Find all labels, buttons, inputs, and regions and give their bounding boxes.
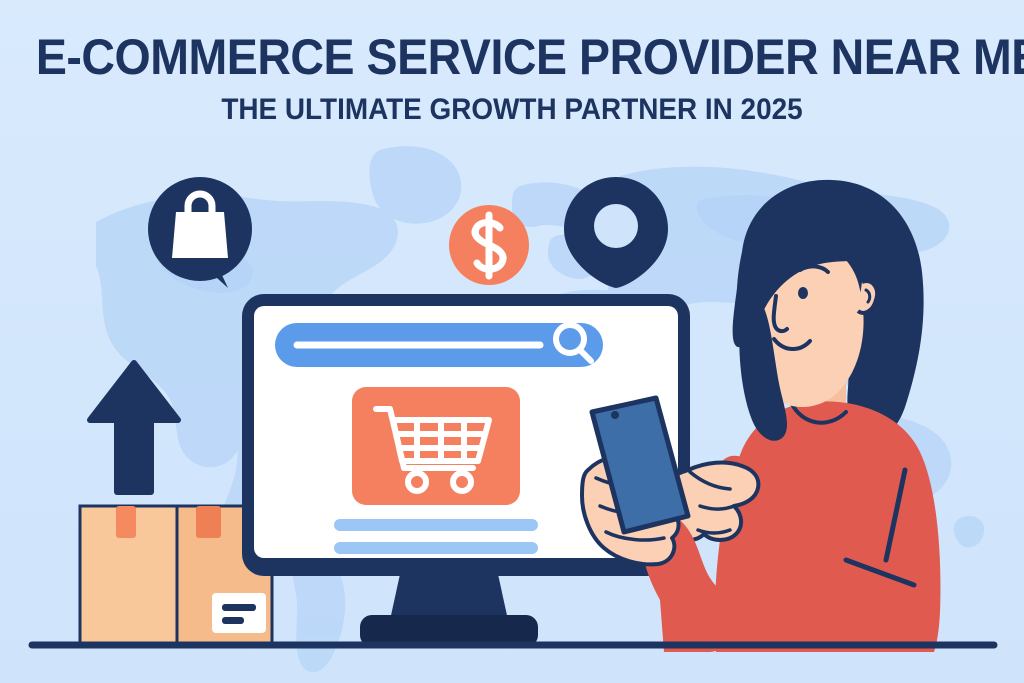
illustration-layer — [0, 0, 1024, 683]
arrow-up-icon — [90, 363, 178, 492]
monitor-stand — [360, 565, 538, 647]
map-pin-icon — [564, 177, 668, 288]
dollar-badge — [449, 205, 529, 285]
monitor-search-bar[interactable] — [275, 323, 603, 367]
poster-canvas: E-COMMERCE SERVICE PROVIDER NEAR ME THE … — [0, 0, 1024, 683]
product-card-cart[interactable] — [352, 387, 520, 505]
shipping-label — [212, 593, 266, 633]
speech-bubble-shopping-bag — [148, 177, 252, 288]
content-placeholder-line-1 — [334, 519, 538, 531]
shipping-box-left — [80, 506, 177, 645]
content-placeholder-line-2 — [334, 542, 538, 554]
